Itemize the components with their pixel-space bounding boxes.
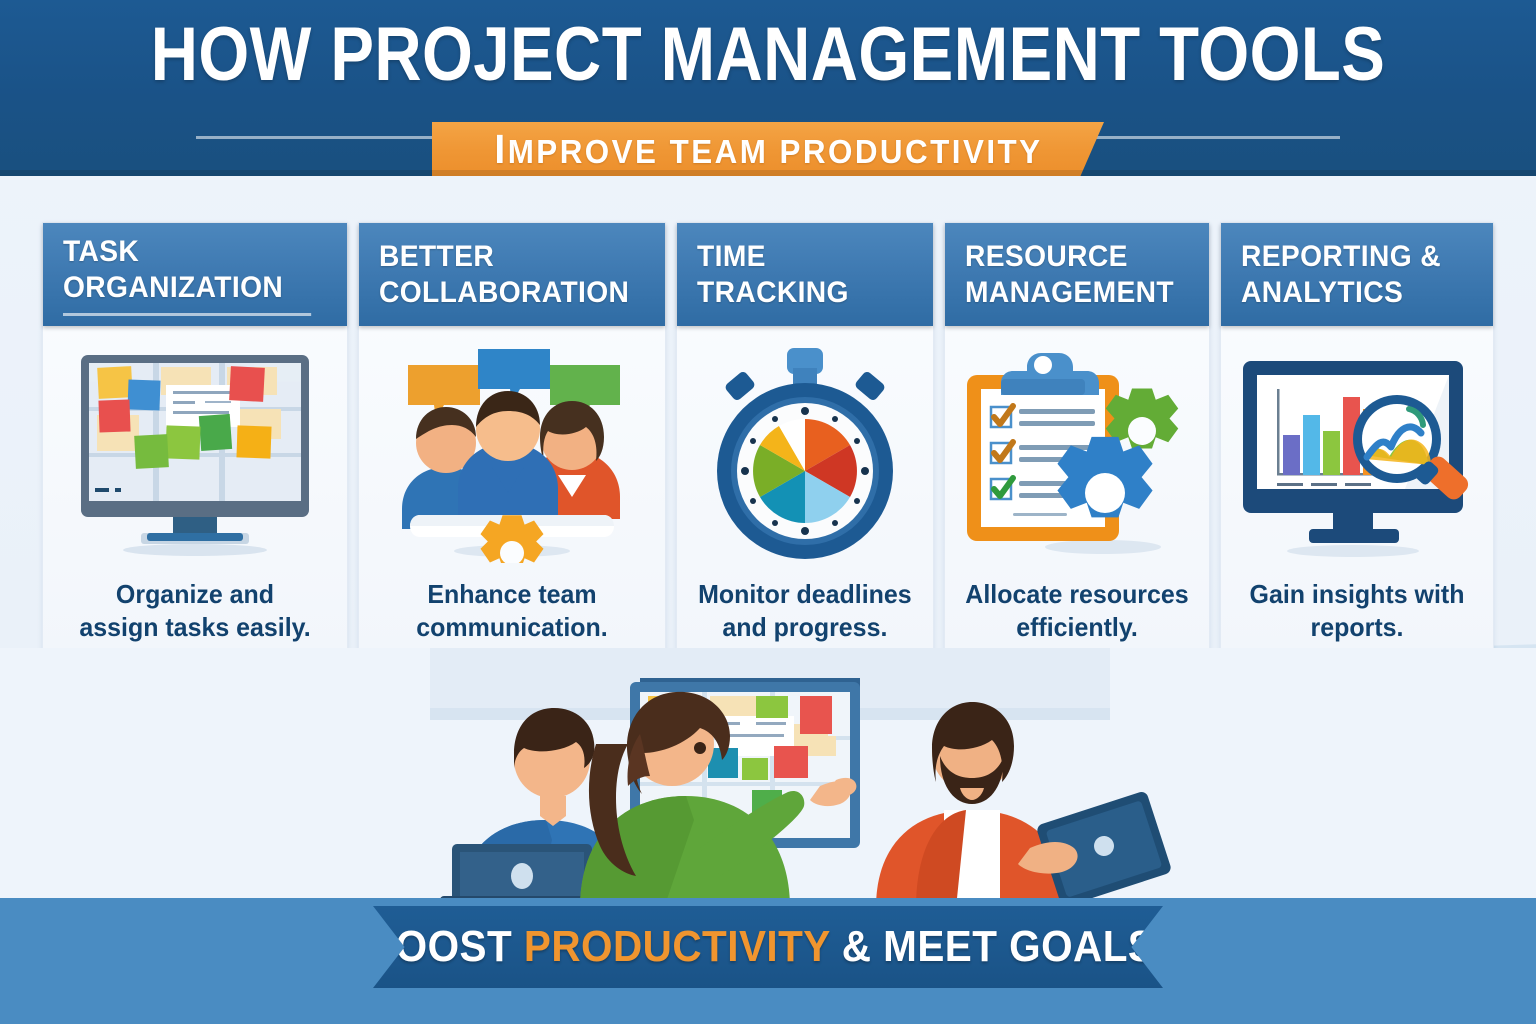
stopwatch-pie-icon — [689, 342, 921, 568]
footer-ribbon: BOOST PRODUCTIVITY & MEET GOALS! — [373, 906, 1163, 988]
card-header: TASK ORGANIZATION — [43, 223, 347, 326]
card-caption: Enhance team communication. — [392, 578, 632, 644]
card-body: Allocate resources efficiently. — [945, 326, 1209, 663]
team-collaboration-illustration — [0, 648, 1536, 908]
card-header: RESOURCE MANAGEMENT — [945, 223, 1209, 326]
card-body: Gain insights with reports. — [1221, 326, 1493, 663]
clipboard-gears-icon — [957, 342, 1197, 568]
card-header: TIME TRACKING — [677, 223, 933, 326]
subtitle-banner: IMPROVE TEAM PRODUCTIVITY — [432, 122, 1104, 176]
card-title: REPORTING & ANALYTICS — [1241, 239, 1459, 311]
card-body: Organize and assign tasks easily. — [43, 326, 347, 663]
footer-text-highlight: PRODUCTIVITY — [524, 922, 830, 971]
card-title: TIME TRACKING — [697, 239, 900, 311]
subtitle-rest: MPROVE TEAM PRODUCTIVITY — [507, 133, 1042, 170]
analytics-monitor-magnifier-icon — [1233, 342, 1481, 568]
card-reporting-analytics[interactable]: REPORTING & ANALYTICS — [1220, 222, 1494, 664]
feature-card-grid: TASK ORGANIZATION — [42, 222, 1494, 664]
card-better-collaboration[interactable]: BETTER COLLABORATION — [358, 222, 666, 664]
card-title: RESOURCE MANAGEMENT — [965, 239, 1176, 311]
team-speech-bubbles-icon — [371, 342, 653, 568]
page-title: HOW PROJECT MANAGEMENT TOOLS — [108, 12, 1429, 98]
subtitle-drop-cap: I — [494, 126, 507, 172]
card-body: Monitor deadlines and progress. — [677, 326, 933, 663]
card-caption: Gain insights with reports. — [1238, 578, 1476, 644]
card-header: BETTER COLLABORATION — [359, 223, 665, 326]
subtitle-text: IMPROVE TEAM PRODUCTIVITY — [494, 126, 1042, 173]
kanban-monitor-icon — [55, 342, 335, 568]
footer-cta-text: BOOST PRODUCTIVITY & MEET GOALS! — [366, 922, 1169, 972]
footer-text-end: & MEET GOALS! — [830, 922, 1169, 971]
card-task-organization[interactable]: TASK ORGANIZATION — [42, 222, 348, 664]
card-title: BETTER COLLABORATION — [379, 239, 629, 311]
infographic-canvas: HOW PROJECT MANAGEMENT TOOLS IMPROVE TEA… — [0, 0, 1536, 1024]
header-banner: HOW PROJECT MANAGEMENT TOOLS IMPROVE TEA… — [0, 0, 1536, 176]
card-caption: Allocate resources efficiently. — [962, 578, 1192, 644]
card-time-tracking[interactable]: TIME TRACKING — [676, 222, 934, 664]
card-header: REPORTING & ANALYTICS — [1221, 223, 1493, 326]
card-title: TASK ORGANIZATION — [63, 234, 311, 316]
card-body: Enhance team communication. — [359, 326, 665, 663]
card-resource-management[interactable]: RESOURCE MANAGEMENT — [944, 222, 1210, 664]
card-caption: Monitor deadlines and progress. — [694, 578, 916, 644]
card-caption: Organize and assign tasks easily. — [75, 578, 315, 644]
